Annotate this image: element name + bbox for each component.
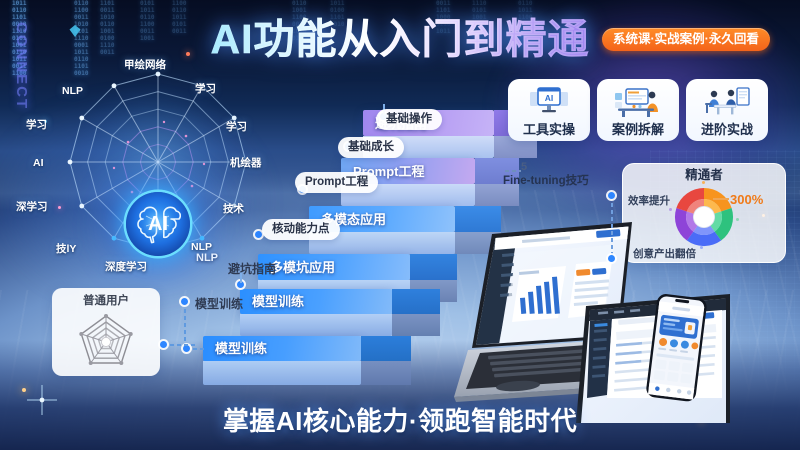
callout-5[interactable]: 基础成长 [338,137,404,158]
fine-tuning-marker: 5 [521,162,527,173]
step-2-tread: 模型训练 [240,289,392,314]
skill-radar-chart: AI 甲绘网络 学习 学习 机绘器 技术 NLP 深度学习 技lY 深学习 AI… [18,62,268,287]
ai-core-label: AI [148,214,168,234]
radar-axis-label-4: 技术 [223,204,244,215]
matrix-code-column: 1100 0110 1011 0101 0011 [172,0,182,52]
matrix-code-column: 0101 1011 0110 1100 0011 1001 [140,0,150,62]
callout-3[interactable]: 核动能力点 [262,219,340,240]
decor-dot [186,52,190,56]
radar-axis-label-3: 机绘器 [230,158,262,169]
connector-dot [160,341,167,348]
connector-dot [255,231,262,238]
basic-user-card-title: 普通用户 [52,296,160,308]
page-title: AI功能从入门到精通 [200,15,600,63]
step-3-tread: 多模坑应用 [258,254,410,280]
radar-axis-label-2: 学习 [226,122,247,133]
device-mockups [400,198,800,423]
radar-axis-label-7: 技lY [56,244,76,255]
radar-axis-label-0: 甲绘网络 [124,60,166,71]
feature-card-case-label: 案例拆解 [612,123,664,136]
fine-tuning-label[interactable]: Fine-tuning技巧 [503,176,589,188]
radar-axis-label-6: 深度学习 [105,262,147,273]
step-1[interactable]: 模型训练 [203,336,423,361]
radar-axis-label-9: AI [33,158,44,169]
side-label-3: NLP [196,248,218,269]
footer-tagline: 掌握AI核心能力·领跑智能时代 [0,405,800,437]
svg-text:AI: AI [545,93,554,103]
ai-core-node: AI [126,192,190,256]
radar-axis-label-10: 学习 [26,120,47,131]
callout-4[interactable]: Prompt工程 [295,172,378,193]
radar-axis-label-8: 深学习 [16,202,48,213]
connector-dot [608,192,615,199]
feature-card-case[interactable]: 案例拆解 [597,79,679,141]
feature-card-advanced-label: 进阶实战 [701,123,753,136]
basic-to-step-connector [163,344,197,346]
monitor-ai-icon: AI [508,85,590,119]
callout-6[interactable]: 基础操作 [376,109,442,130]
connector-dot [181,298,188,305]
promo-badge: 系统课·实战案例·永久回看 [602,28,770,51]
desk-person-icon [597,85,679,119]
feature-card-advanced[interactable]: 进阶实战 [686,79,768,141]
step-2-riser-face [240,314,392,336]
connector-dot [183,345,190,352]
fine-tuning-connector [505,170,521,172]
two-people-icon [686,85,768,119]
radar-axis-label-11: NLP [62,86,83,97]
basic-user-radar-chart [76,312,136,370]
radar-axis-label-1: 学习 [195,84,216,95]
master-card-title: 精通者 [622,169,786,182]
callout-2[interactable]: 避坑指南 [228,258,276,279]
donut-tick-dot [702,181,705,184]
step-1-riser [203,361,423,385]
step-1-tread: 模型训练 [203,336,361,361]
connector-dot [608,255,615,262]
device-connector-line [611,196,613,258]
feature-card-tool[interactable]: AI 工具实操 [508,79,590,141]
step-1-riser-face [203,361,361,385]
feature-card-tool-label: 工具实操 [523,123,575,136]
connector-line [184,302,186,346]
poster-stage: 1011 0110 1101 0010 1110 0101 1001 0110 … [0,0,800,450]
callout-1[interactable]: 模型训练 [195,293,243,314]
decor-diamond-icon [68,24,82,38]
